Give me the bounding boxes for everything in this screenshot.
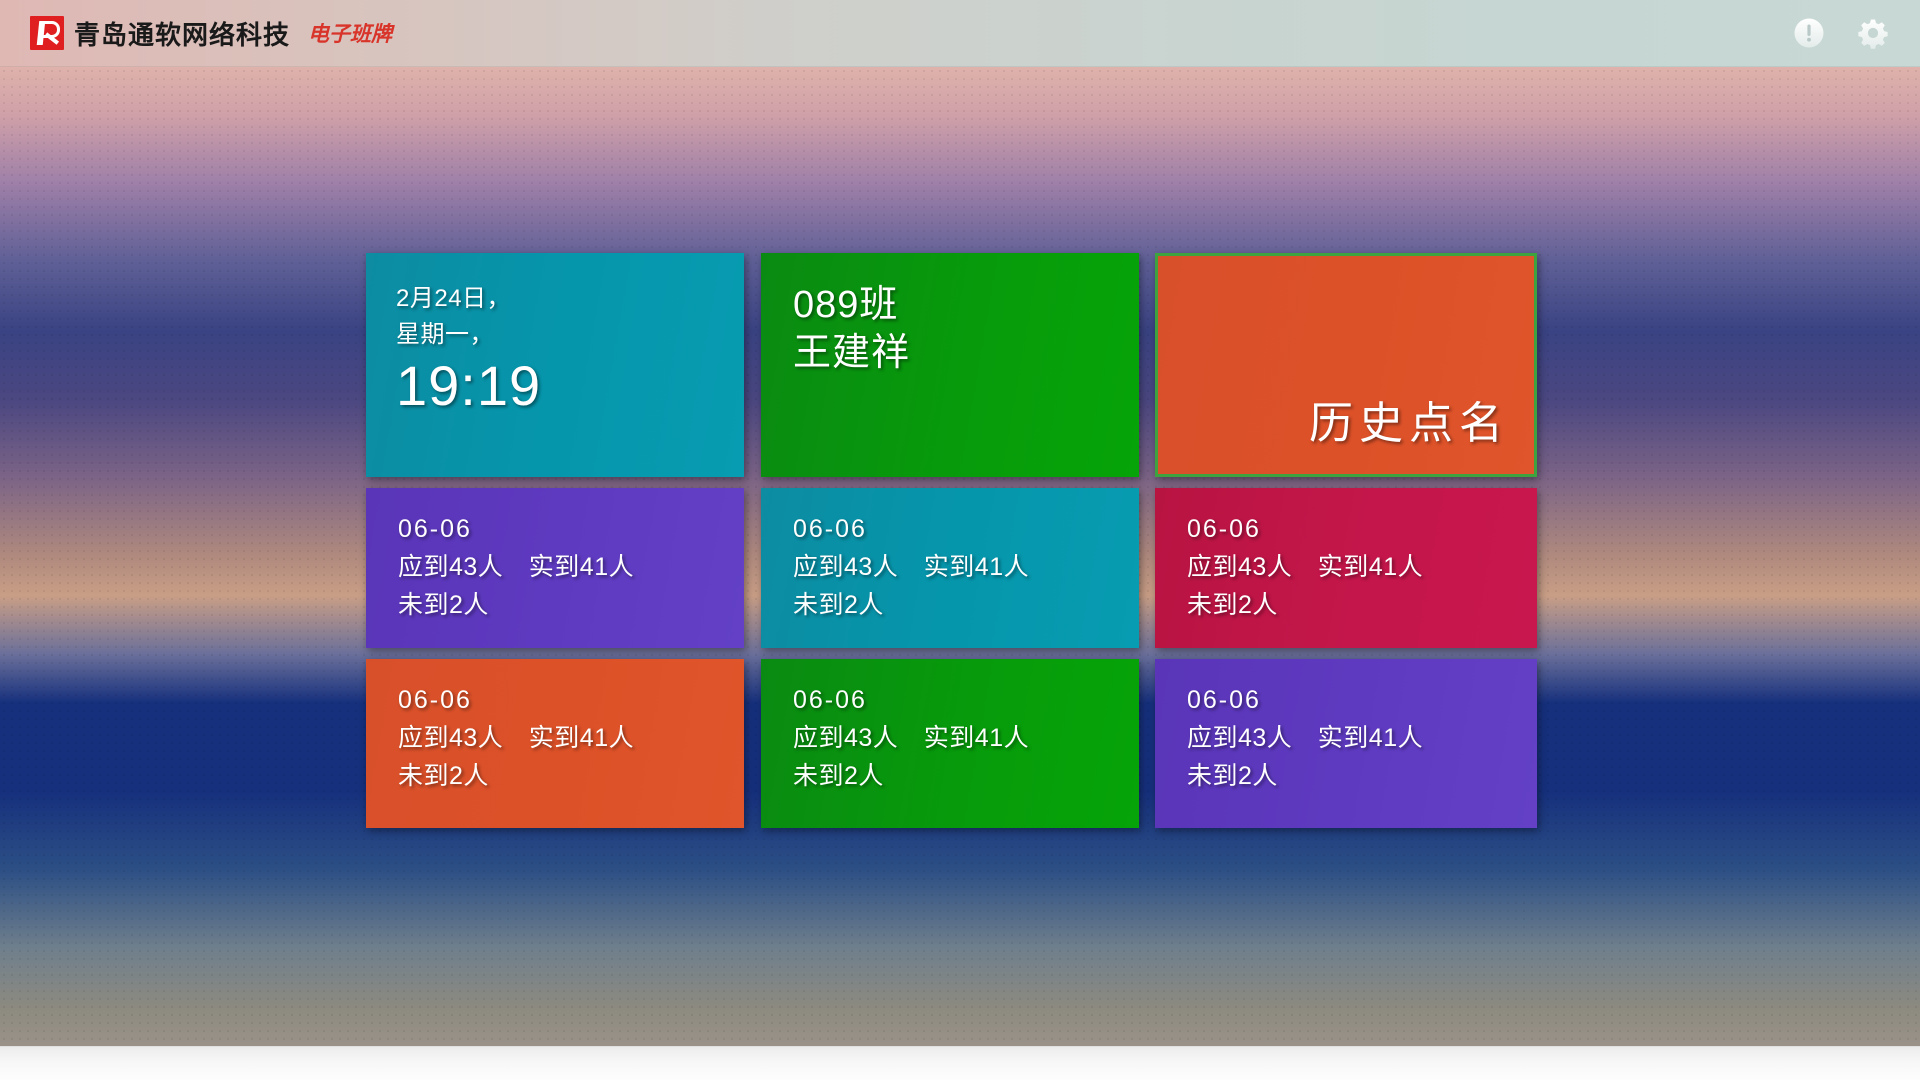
teacher-name: 王建祥 <box>793 329 1139 377</box>
attendance-tile[interactable]: 06-06 应到43人 实到41人 未到2人 <box>1155 659 1537 828</box>
attendance-date: 06-06 <box>1187 510 1537 548</box>
header-actions <box>1790 14 1892 52</box>
history-rollcall-label: 历史点名 <box>1309 387 1537 477</box>
attendance-absent: 未到2人 <box>793 757 1139 795</box>
attendance-expected-actual: 应到43人 实到41人 <box>1187 548 1537 586</box>
tile-row-2: 06-06 应到43人 实到41人 未到2人 06-06 应到43人 实到41人… <box>366 488 1538 648</box>
current-date: 2月24日， <box>396 281 744 317</box>
attendance-expected-actual: 应到43人 实到41人 <box>793 548 1139 586</box>
attendance-date: 06-06 <box>793 681 1139 719</box>
tile-row-1: 2月24日， 星期一， 19:19 089班 王建祥 历史点名 <box>366 253 1538 477</box>
attendance-expected-actual: 应到43人 实到41人 <box>1187 719 1537 757</box>
brand-subtitle: 电子班牌 <box>308 18 392 48</box>
gear-icon[interactable] <box>1854 14 1892 52</box>
brand: 青岛通软网络科技 电子班牌 <box>30 15 392 52</box>
datetime-tile[interactable]: 2月24日， 星期一， 19:19 <box>366 253 744 477</box>
history-rollcall-tile[interactable]: 历史点名 <box>1155 253 1537 477</box>
attendance-absent: 未到2人 <box>1187 586 1537 624</box>
attendance-absent: 未到2人 <box>398 586 744 624</box>
app-header: 青岛通软网络科技 电子班牌 <box>0 0 1920 67</box>
attendance-absent: 未到2人 <box>398 757 744 795</box>
attendance-absent: 未到2人 <box>793 586 1139 624</box>
current-time: 19:19 <box>396 355 744 417</box>
attendance-date: 06-06 <box>398 681 744 719</box>
attendance-expected-actual: 应到43人 实到41人 <box>398 548 744 586</box>
attendance-tile[interactable]: 06-06 应到43人 实到41人 未到2人 <box>761 488 1139 648</box>
attendance-tile[interactable]: 06-06 应到43人 实到41人 未到2人 <box>1155 488 1537 648</box>
attendance-date: 06-06 <box>793 510 1139 548</box>
attendance-date: 06-06 <box>398 510 744 548</box>
class-info-tile[interactable]: 089班 王建祥 <box>761 253 1139 477</box>
tile-grid: 2月24日， 星期一， 19:19 089班 王建祥 历史点名 <box>366 253 1538 828</box>
current-weekday: 星期一， <box>396 317 744 353</box>
class-name: 089班 <box>793 281 1139 329</box>
attendance-tile[interactable]: 06-06 应到43人 实到41人 未到2人 <box>366 488 744 648</box>
attendance-expected-actual: 应到43人 实到41人 <box>398 719 744 757</box>
attendance-tile[interactable]: 06-06 应到43人 实到41人 未到2人 <box>761 659 1139 828</box>
tile-row-3: 06-06 应到43人 实到41人 未到2人 06-06 应到43人 实到41人… <box>366 659 1538 828</box>
alert-circle-icon[interactable] <box>1790 14 1828 52</box>
electronic-class-board-app: 青岛通软网络科技 电子班牌 <box>0 0 1920 1080</box>
bottom-status-bar <box>0 1046 1920 1080</box>
logo-slash-decoration <box>45 32 59 44</box>
company-logo-icon <box>30 16 64 50</box>
brand-name: 青岛通软网络科技 <box>74 15 290 52</box>
attendance-date: 06-06 <box>1187 681 1537 719</box>
attendance-absent: 未到2人 <box>1187 757 1537 795</box>
attendance-expected-actual: 应到43人 实到41人 <box>793 719 1139 757</box>
attendance-tile[interactable]: 06-06 应到43人 实到41人 未到2人 <box>366 659 744 828</box>
